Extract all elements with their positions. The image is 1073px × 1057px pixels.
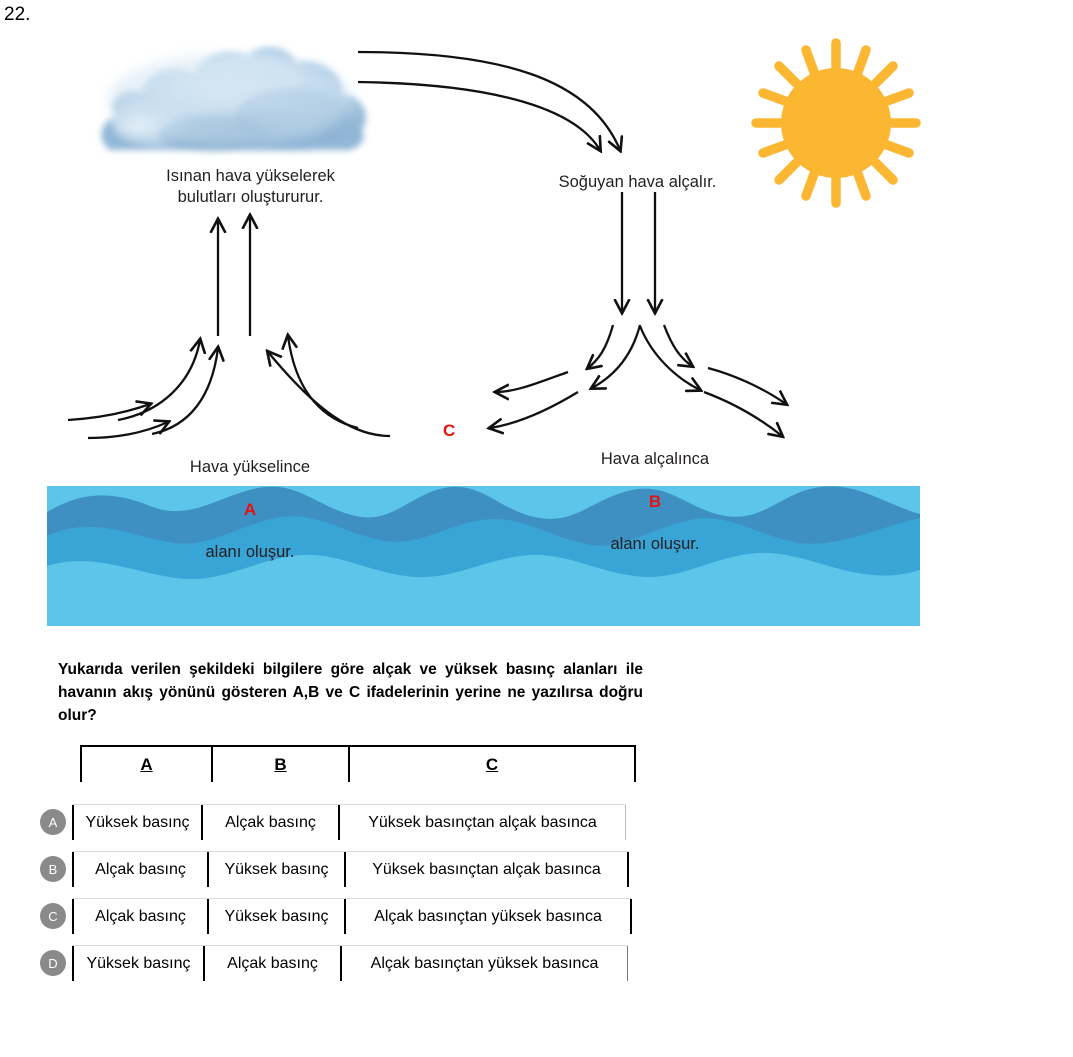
arrow-inflow-1 (68, 404, 150, 420)
answer-option-a[interactable]: A Yüksek basınç Alçak basınç Yüksek bası… (40, 804, 626, 840)
option-cell-a: Alçak basınç (72, 852, 207, 887)
option-cell-b: Alçak basınç (201, 805, 338, 840)
option-cell-c: Yüksek basınçtan alçak basınca (344, 852, 629, 887)
option-cell-a: Alçak basınç (72, 899, 207, 934)
answer-option-c[interactable]: C Alçak basınç Yüksek basınç Alçak basın… (40, 898, 632, 934)
high-area-caption: Hava alçalınca B alanı oluşur. (545, 428, 765, 555)
option-badge[interactable]: B (40, 856, 66, 882)
option-values: Yüksek basınç Alçak basınç Yüksek basınç… (72, 804, 626, 840)
header-col-a: A (82, 747, 213, 782)
arrow-outflow-l1 (496, 372, 568, 392)
question-prompt: Yukarıda verilen şekildeki bilgilere gör… (58, 658, 643, 727)
option-cell-c: Alçak basınçtan yüksek basınca (340, 946, 628, 981)
option-cell-b: Yüksek basınç (207, 852, 344, 887)
header-col-c: C (350, 747, 634, 782)
mark-a: A (244, 500, 256, 519)
arrow-converge-l2 (152, 348, 218, 434)
cloud-caption: Isınan hava yükselerek bulutları oluştur… (118, 166, 383, 208)
arrow-aloft-1 (358, 52, 620, 150)
arrow-converge-l1 (118, 340, 200, 420)
low-area-caption: Hava yükselince A alanı oluşur. (140, 436, 360, 563)
header-col-b: B (213, 747, 350, 782)
option-badge[interactable]: A (40, 809, 66, 835)
descend-caption: Soğuyan hava alçalır. (520, 172, 755, 193)
arrow-converge-l4 (268, 352, 390, 436)
option-cell-b: Yüksek basınç (207, 899, 344, 934)
option-cell-c: Alçak basınçtan yüksek basınca (344, 899, 632, 934)
arrow-diverge-r3 (664, 325, 692, 366)
pressure-diagram: Isınan hava yükselerek bulutları oluştur… (0, 0, 1073, 640)
arrow-diverge-r4 (640, 326, 700, 390)
option-badge[interactable]: C (40, 903, 66, 929)
answer-option-d[interactable]: D Yüksek basınç Alçak basınç Alçak basın… (40, 945, 628, 981)
option-cell-a: Yüksek basınç (72, 946, 203, 981)
arrow-diverge-r1 (588, 325, 613, 368)
option-cell-a: Yüksek basınç (72, 805, 201, 840)
sun-icon (756, 43, 916, 203)
high-area-line3: alanı oluşur. (611, 535, 700, 553)
arrow-aloft-2 (358, 82, 600, 150)
mark-c: C (443, 421, 455, 441)
option-values: Alçak basınç Yüksek basınç Yüksek basınç… (72, 851, 629, 887)
mark-b: B (649, 492, 661, 511)
option-cell-c: Yüksek basınçtan alçak basınca (338, 805, 626, 840)
high-area-line1: Hava alçalınca (601, 450, 709, 468)
arrow-outflow-l2 (490, 392, 578, 428)
answer-table-header: A B C (80, 745, 636, 782)
low-area-line1: Hava yükselince (190, 458, 310, 476)
option-values: Alçak basınç Yüksek basınç Alçak basınçt… (72, 898, 632, 934)
option-cell-b: Alçak basınç (203, 946, 340, 981)
arrow-converge-l3 (288, 336, 358, 428)
cloud-soft-edge (108, 54, 352, 146)
option-badge[interactable]: D (40, 950, 66, 976)
option-values: Yüksek basınç Alçak basınç Alçak basınçt… (72, 945, 628, 981)
low-area-line3: alanı oluşur. (206, 543, 295, 561)
answer-option-b[interactable]: B Alçak basınç Yüksek basınç Yüksek bası… (40, 851, 629, 887)
